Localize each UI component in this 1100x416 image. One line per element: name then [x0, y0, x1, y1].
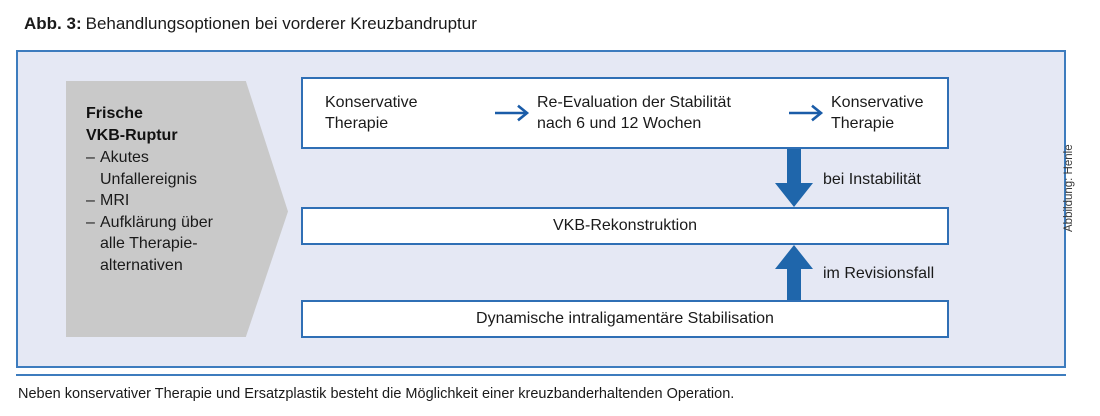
vkb-rekonstruktion-label: VKB-Rekonstruktion: [553, 215, 697, 237]
bullet-dash: –: [86, 147, 100, 169]
step-konservative-therapie-continued: Konservative Therapie: [831, 92, 981, 135]
dynamische-stabilisation-box: Dynamische intraligamentäre Stabilisatio…: [301, 300, 949, 338]
step-konservative-therapie-initial: Konservative Therapie: [325, 92, 493, 135]
arrow-right-icon: [787, 104, 831, 122]
arrow-right-icon: [493, 104, 537, 122]
patient-heading-line-1: Frische: [86, 103, 266, 125]
figure-number: Abb. 3:: [24, 14, 82, 33]
arrow-up-icon: [775, 245, 813, 303]
caption-divider: [16, 374, 1066, 376]
transition-label-im-revisionsfall: im Revisionsfall: [823, 263, 934, 285]
arrow-down-icon: [775, 149, 813, 207]
list-item: –MRI: [86, 190, 266, 212]
bullet-dash: –: [86, 190, 100, 212]
figure-title-text: Behandlungsoptionen bei vorderer Kreuzba…: [86, 14, 477, 33]
conservative-pathway-box: Konservative Therapie Re-Evaluation der …: [301, 77, 949, 149]
list-item: –Akutes Unfallereignis: [86, 147, 266, 190]
step-reevaluation-stabilitaet: Re-Evaluation der Stabilität nach 6 und …: [537, 92, 787, 135]
dynamische-stabilisation-label: Dynamische intraligamentäre Stabilisatio…: [476, 308, 774, 330]
list-item-label: Aufklärung über alle Therapie- alternati…: [100, 214, 213, 274]
figure-title: Abb. 3:Behandlungsoptionen bei vorderer …: [24, 13, 477, 35]
diagram-frame: Frische VKB-Ruptur –Akutes Unfallereigni…: [16, 50, 1066, 368]
patient-criteria-list: –Akutes Unfallereignis –MRI –Aufklärung …: [86, 147, 266, 276]
patient-indication-block: Frische VKB-Ruptur –Akutes Unfallereigni…: [66, 81, 288, 337]
figure-caption: Neben konservativer Therapie und Ersatzp…: [18, 385, 734, 404]
figure-credit: Abbildung: Henle: [1063, 144, 1075, 232]
list-item-label: MRI: [100, 192, 129, 209]
vkb-rekonstruktion-box: VKB-Rekonstruktion: [301, 207, 949, 245]
patient-indication-content: Frische VKB-Ruptur –Akutes Unfallereigni…: [86, 103, 266, 276]
list-item: –Aufklärung über alle Therapie- alternat…: [86, 212, 266, 277]
list-item-label: Akutes Unfallereignis: [100, 149, 197, 188]
bullet-dash: –: [86, 212, 100, 234]
transition-label-bei-instabilitaet: bei Instabilität: [823, 169, 921, 191]
patient-heading-line-2: VKB-Ruptur: [86, 125, 266, 147]
